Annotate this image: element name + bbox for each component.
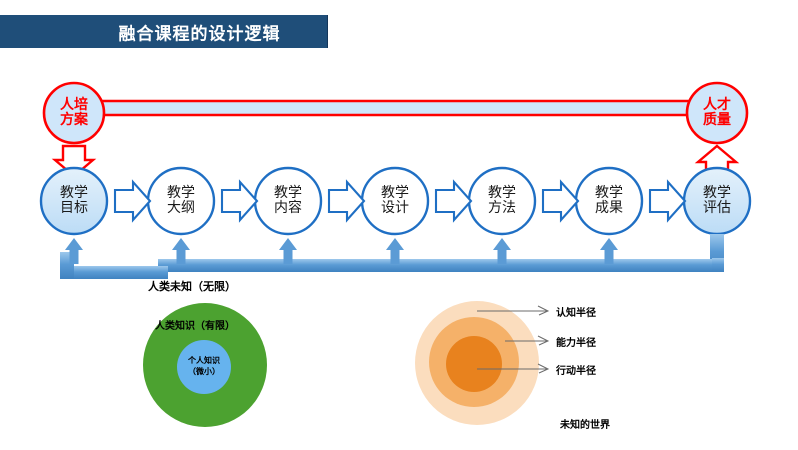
chevron-arrow-icon-3 [329, 182, 364, 220]
blue-node-method[interactable] [469, 168, 535, 234]
red-node-quality[interactable] [687, 83, 747, 143]
human-unknown-label: 人类未知（无限） [148, 278, 236, 294]
chevron-arrow-icon-1 [115, 182, 150, 220]
diagram-canvas [0, 0, 798, 450]
top-feedback-arrow [48, 92, 690, 124]
personal-knowledge-label: 个人知识 （微小） [180, 356, 228, 378]
action-radius-circle [446, 336, 502, 392]
personal-knowledge-line2: （微小） [180, 367, 228, 378]
blue-node-goal[interactable] [41, 168, 107, 234]
blue-node-content[interactable] [255, 168, 321, 234]
cognition-radius-label: 认知半径 [556, 304, 596, 319]
blue-node-evaluate[interactable] [684, 168, 750, 234]
red-node-plan[interactable] [44, 83, 104, 143]
unknown-world-label: 未知的世界 [560, 416, 610, 431]
feedback-bus [60, 234, 724, 279]
blue-node-outline[interactable] [148, 168, 214, 234]
chevron-arrow-icon-2 [222, 182, 257, 220]
radius-diagram [415, 301, 548, 425]
chevron-arrow-icon-6 [650, 182, 685, 220]
personal-knowledge-line1: 个人知识 [180, 356, 228, 367]
ability-radius-label: 能力半径 [556, 334, 596, 349]
blue-node-result[interactable] [576, 168, 642, 234]
chevron-arrow-icon-5 [543, 182, 578, 220]
human-knowledge-label: 人类知识（有限） [155, 317, 235, 332]
chevron-arrow-icon-4 [436, 182, 471, 220]
blue-node-design[interactable] [362, 168, 428, 234]
action-radius-label: 行动半径 [556, 362, 596, 377]
